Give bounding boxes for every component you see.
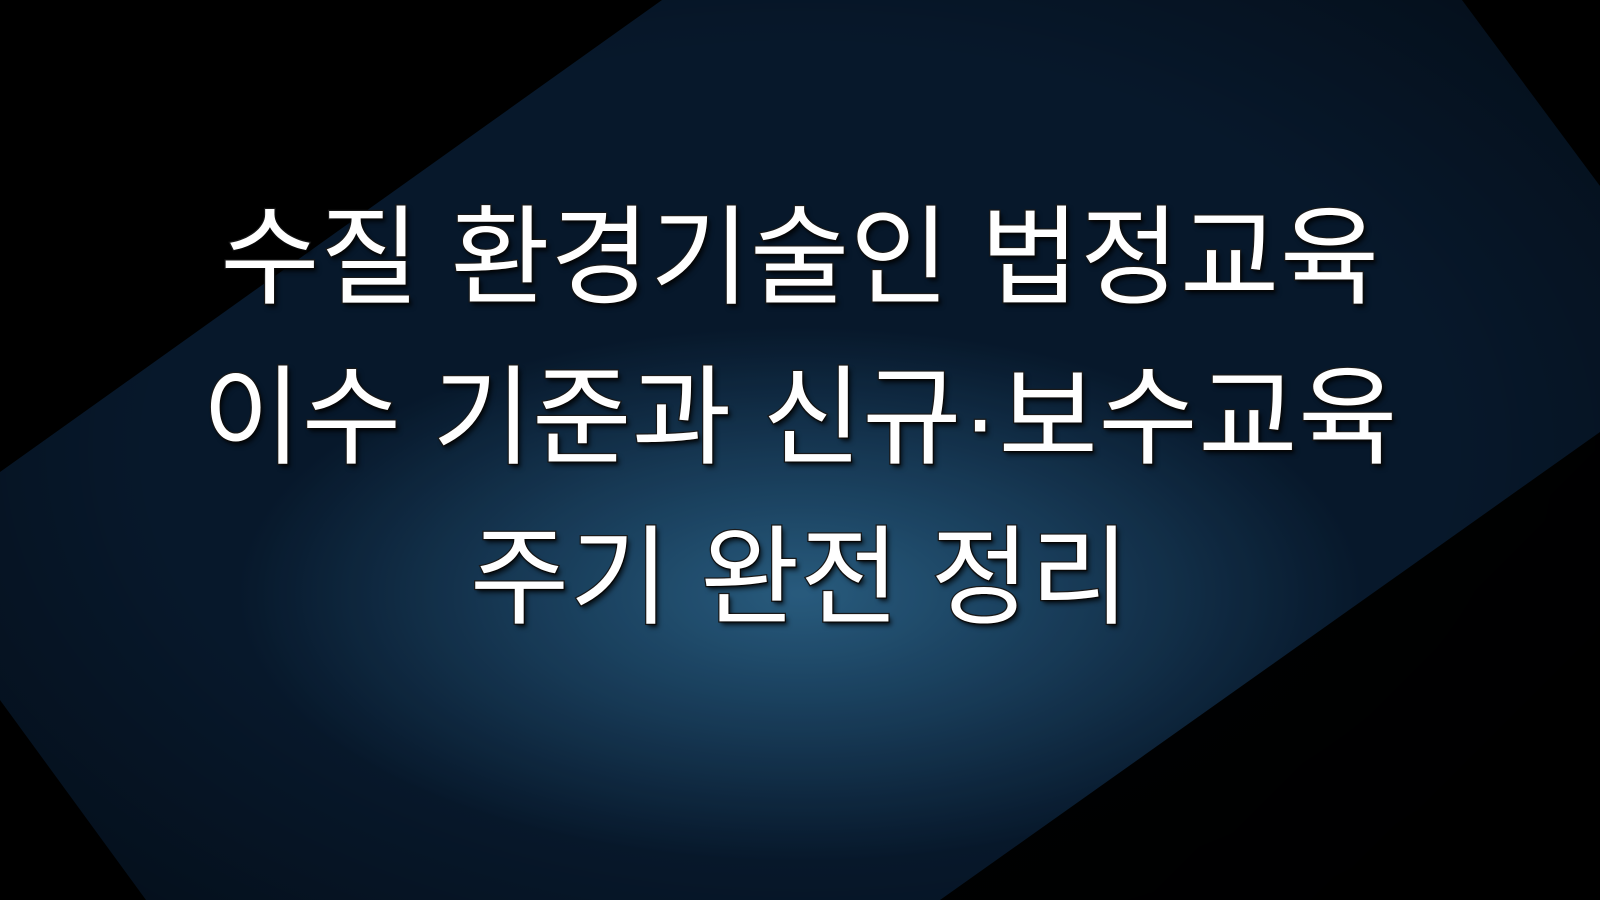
presentation-slide: 수질 환경기술인 법정교육 이수 기준과 신규·보수교육 주기 완전 정리 — [0, 0, 1600, 900]
